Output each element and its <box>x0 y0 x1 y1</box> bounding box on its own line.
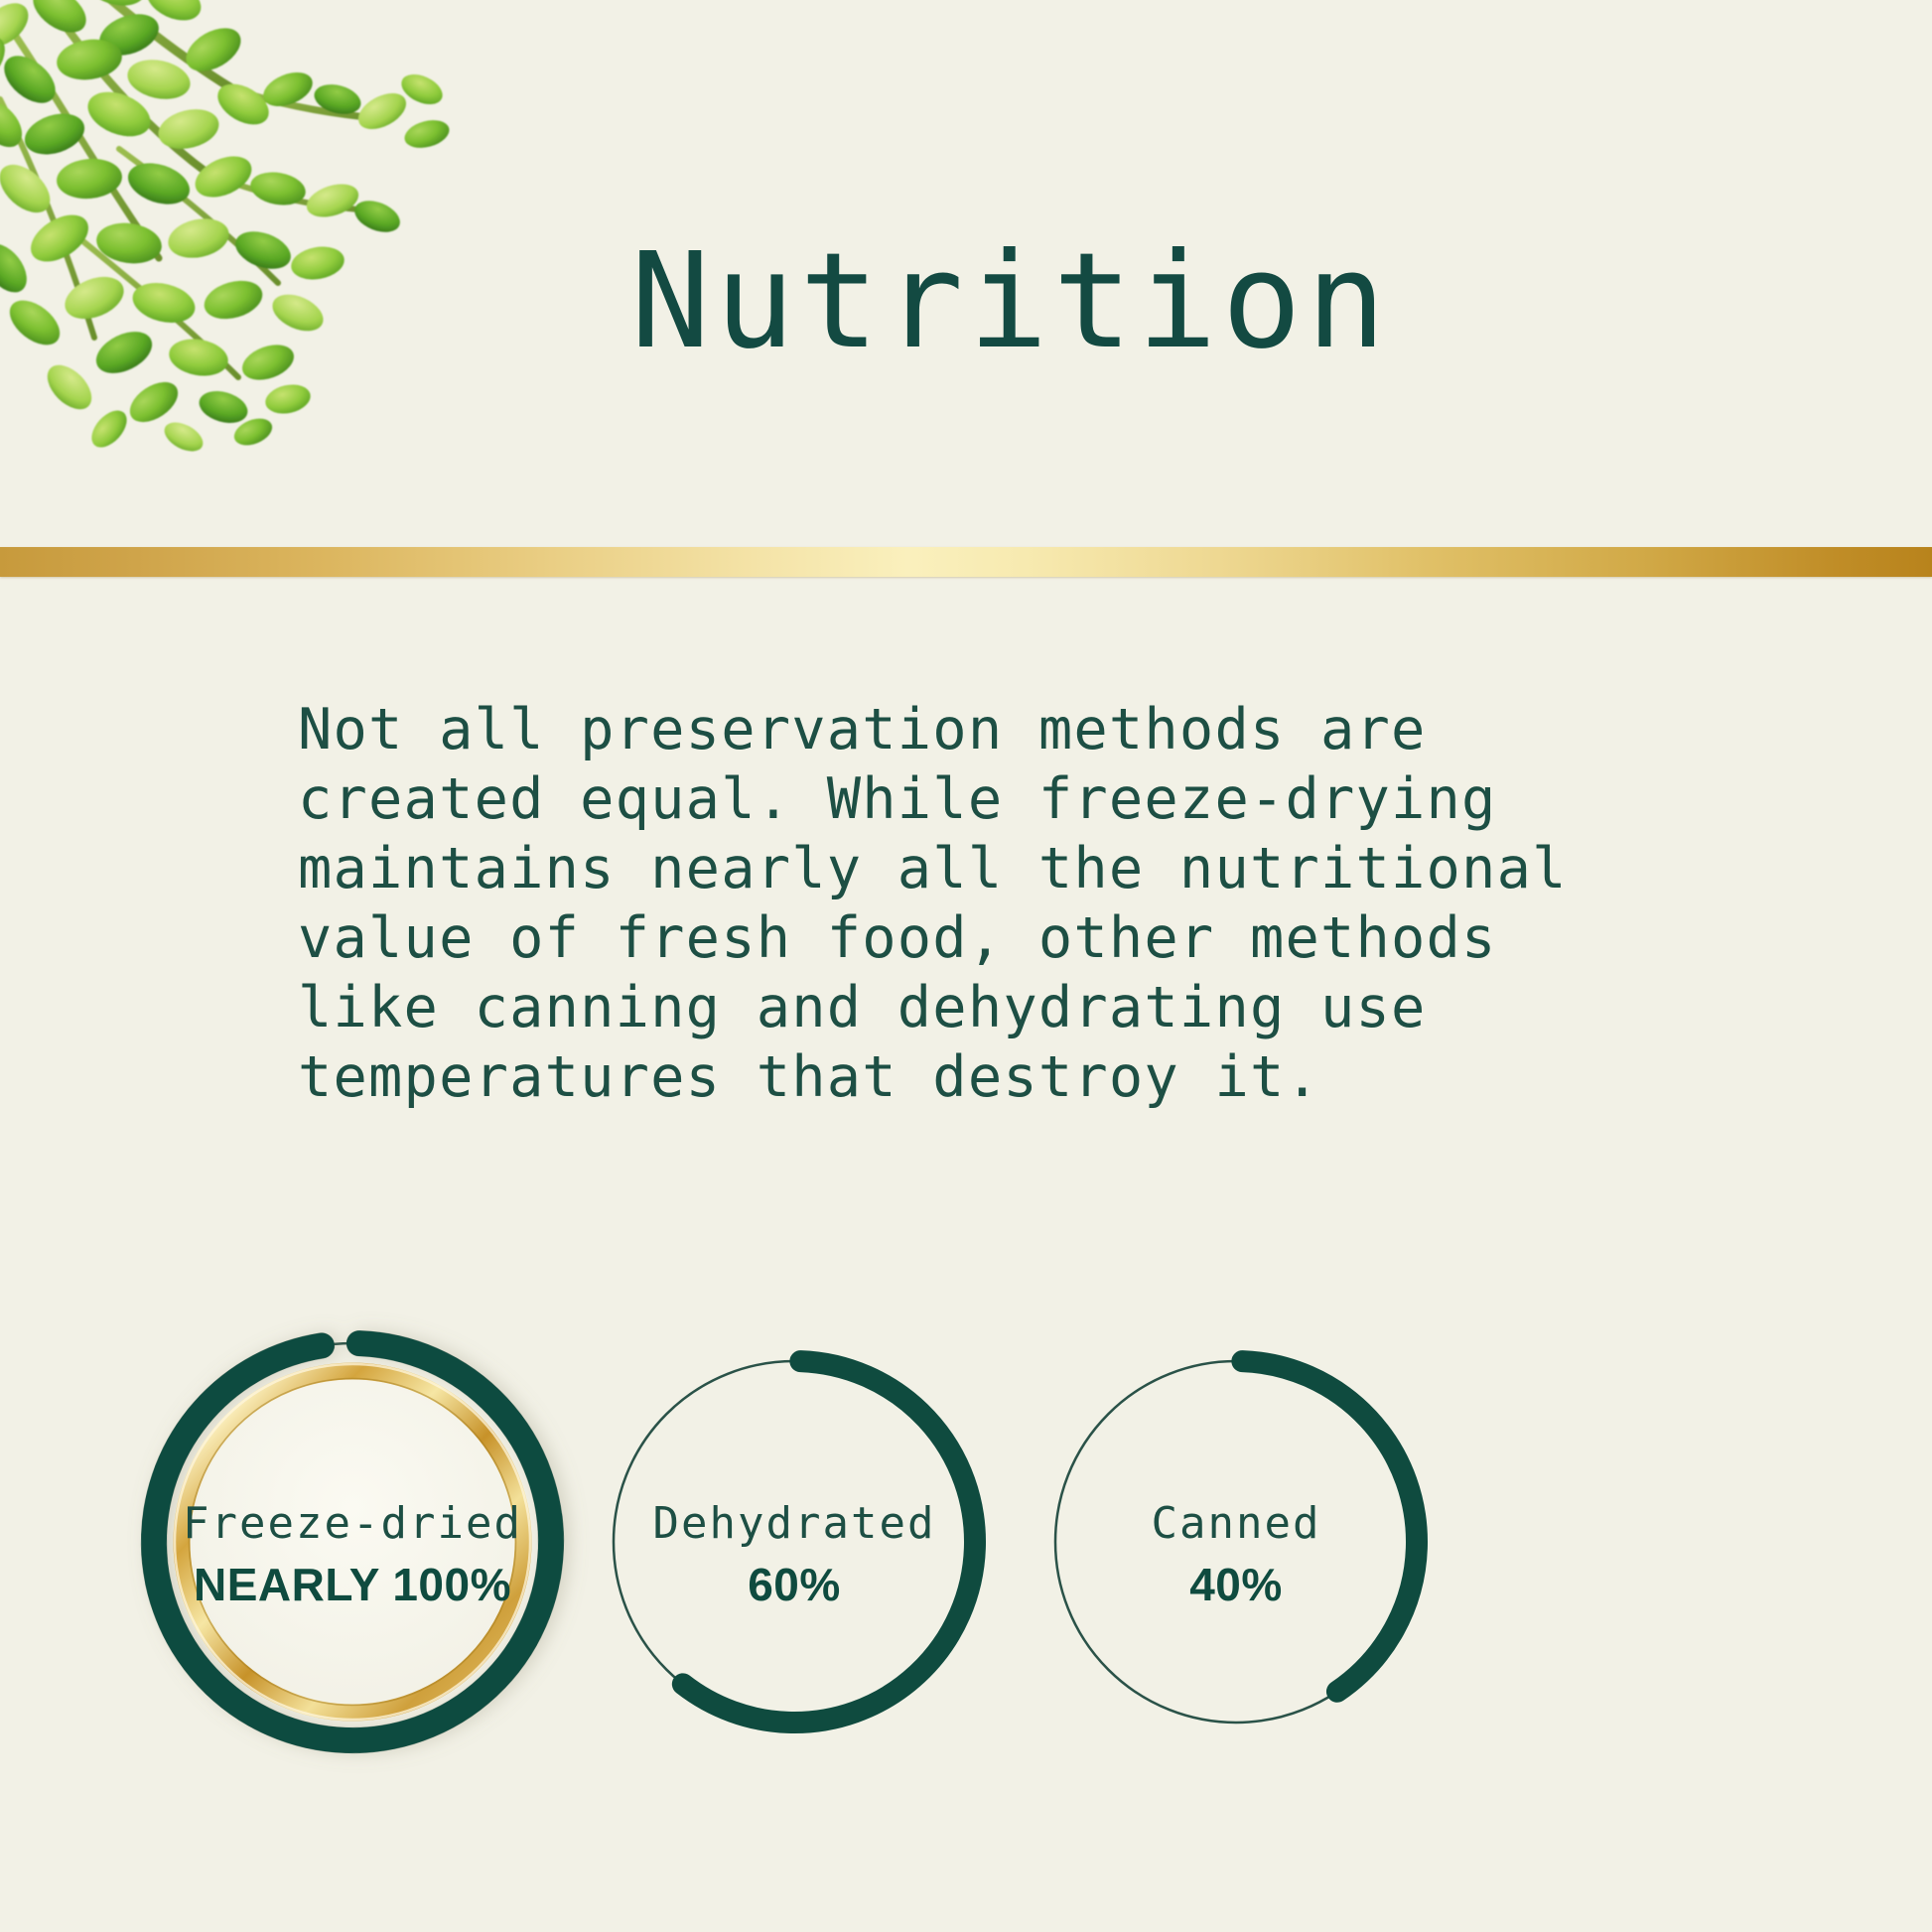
header: Nutrition <box>0 226 1932 378</box>
canned-caption: Canned 40% <box>1008 1496 1464 1613</box>
dehydrated-caption: Dehydrated 60% <box>566 1496 1023 1613</box>
page-title: Nutrition <box>630 226 1391 378</box>
metric-freeze-dried: Freeze-dried NEARLY 100% <box>124 1266 581 1822</box>
metrics-row: Freeze-dried NEARLY 100% Dehydrated 60% … <box>0 1266 1932 1822</box>
gold-divider <box>0 547 1932 577</box>
metric-dehydrated: Dehydrated 60% <box>566 1266 1023 1822</box>
body-paragraph: Not all preservation methods are created… <box>298 695 1688 1112</box>
metric-canned: Canned 40% <box>1008 1266 1464 1822</box>
metric-label: Dehydrated <box>566 1496 1023 1552</box>
metric-label: Freeze-dried <box>124 1496 581 1552</box>
metric-value: NEARLY 100% <box>124 1556 581 1613</box>
metric-value: 40% <box>1008 1556 1464 1613</box>
nutrition-infographic: Nutrition Not all preservation methods a… <box>0 0 1932 1932</box>
freeze-dried-caption: Freeze-dried NEARLY 100% <box>124 1496 581 1613</box>
metric-label: Canned <box>1008 1496 1464 1552</box>
metric-value: 60% <box>566 1556 1023 1613</box>
